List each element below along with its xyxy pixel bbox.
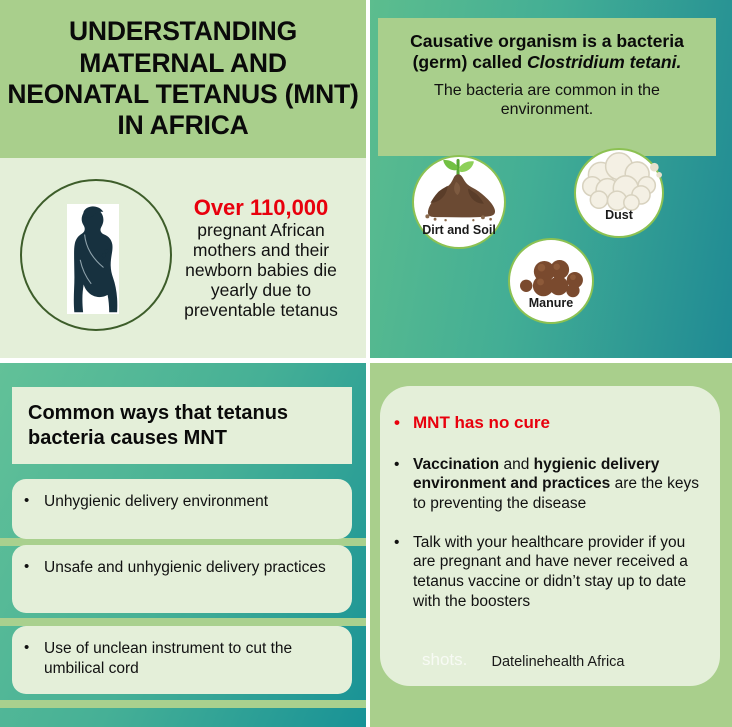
ways-separator [0, 700, 366, 708]
title-band: UNDERSTANDING MATERNAL AND NEONATAL TETA… [0, 0, 366, 158]
list-item-label: MNT has no cure [413, 412, 702, 434]
source-bubble-manure: Manure [508, 238, 594, 324]
list-item-label: Unhygienic delivery environment [44, 492, 338, 526]
list-item-label: Talk with your healthcare provider if yo… [413, 533, 702, 612]
bullet-glyph: • [394, 533, 413, 612]
organism-species-name: Clostridium tetani. [527, 52, 681, 72]
bullet-glyph: • [394, 412, 413, 434]
statistic-text: Over 110,000 pregnant African mothers an… [168, 195, 366, 321]
credit-attribution: Datelinehealth Africa [380, 654, 720, 670]
source-bubble-dirt-and-soil: Dirt and Soil [412, 155, 506, 249]
infographic-root: UNDERSTANDING MATERNAL AND NEONATAL TETA… [0, 0, 732, 727]
pregnant-woman-silhouette-icon [67, 204, 119, 314]
bullet-glyph: • [24, 492, 44, 526]
organism-subtext: The bacteria are common in the environme… [386, 81, 708, 119]
bullet-glyph: • [24, 558, 44, 600]
organism-headline: Causative organism is a bacteria (germ) … [386, 31, 708, 72]
list-item: • Unhygienic delivery environment [12, 479, 352, 539]
source-label-dust: Dust [605, 209, 633, 222]
dust-cloud-icon [576, 150, 662, 236]
list-item-talk-to-provider: • Talk with your healthcare provider if … [394, 533, 702, 612]
list-item-no-cure: • MNT has no cure [394, 412, 702, 434]
panel-common-ways: Common ways that tetanus bacteria causes… [0, 363, 366, 727]
source-label-dirt-and-soil: Dirt and Soil [422, 224, 496, 237]
statistic-figure [8, 171, 168, 346]
list-item: • Unsafe and unhygienic delivery practic… [12, 545, 352, 613]
ways-separator [0, 618, 366, 626]
list-item-label: Vaccination and hygienic delivery enviro… [413, 455, 702, 514]
panel-causative-organism: Causative organism is a bacteria (germ) … [370, 0, 732, 358]
panel-title-and-statistic: UNDERSTANDING MATERNAL AND NEONATAL TETA… [0, 0, 366, 358]
statistic-body: pregnant African mothers and their newbo… [184, 220, 338, 320]
panel-prevention: • MNT has no cure • Vaccination and hygi… [370, 363, 732, 727]
ways-header: Common ways that tetanus bacteria causes… [12, 387, 352, 464]
statistic-headline: Over 110,000 [170, 195, 352, 220]
list-item-label: Unsafe and unhygienic delivery practices [44, 558, 338, 600]
list-item-label: Use of unclean instrument to cut the umb… [44, 639, 338, 681]
list-item-prevention-keys: • Vaccination and hygienic delivery envi… [394, 455, 702, 514]
organism-callout-box: Causative organism is a bacteria (germ) … [378, 18, 716, 156]
source-bubble-dust: Dust [574, 148, 664, 238]
page-title: UNDERSTANDING MATERNAL AND NEONATAL TETA… [0, 16, 366, 141]
bullet-glyph: • [24, 639, 44, 681]
prevention-card: • MNT has no cure • Vaccination and hygi… [380, 386, 720, 686]
bullet-glyph: • [394, 455, 413, 514]
source-label-manure: Manure [529, 297, 573, 310]
statistic-section: Over 110,000 pregnant African mothers an… [0, 158, 366, 358]
list-item: • Use of unclean instrument to cut the u… [12, 626, 352, 694]
